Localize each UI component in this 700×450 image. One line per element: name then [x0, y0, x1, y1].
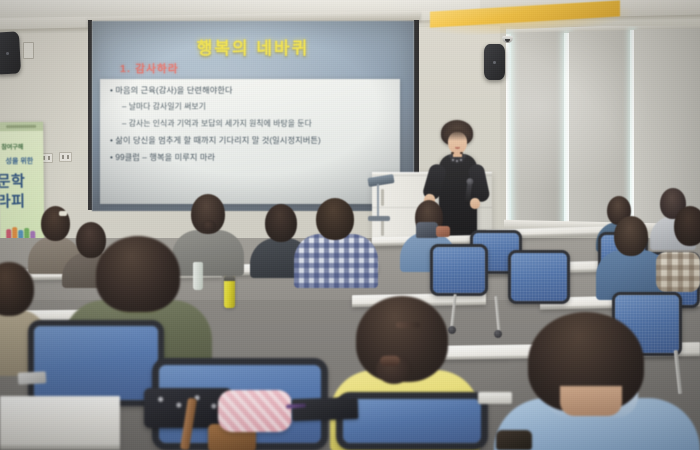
- chair-backrest: [430, 244, 488, 296]
- pink-scarf: [218, 390, 292, 432]
- poster-headline-2: 라피: [0, 190, 26, 211]
- projection-screen: 행복의 네바퀴 1. 감사하라 • 마음의 근육(감사)을 단련해야한다 – 날…: [92, 21, 414, 211]
- wall-speaker-right: [484, 44, 505, 80]
- hair-clip-icon: [396, 322, 420, 328]
- chair-backrest: [336, 392, 488, 450]
- attendee-neck: [560, 386, 622, 416]
- cup[interactable]: [496, 430, 532, 450]
- attendee-shoulders: [294, 234, 378, 288]
- poster-top-note: 참여구해: [1, 142, 23, 151]
- lecture-hall-photo: 행복의 네바퀴 1. 감사하라 • 마음의 근육(감사)을 단련해야한다 – 날…: [0, 0, 700, 450]
- desk-object-front[interactable]: [416, 222, 438, 238]
- screen-vignette: [92, 21, 414, 211]
- desk-foreground: [0, 396, 120, 450]
- attendee-checkered-shirt: [294, 198, 378, 286]
- chair-row3-b[interactable]: [508, 250, 570, 304]
- smartphone[interactable]: [18, 371, 47, 384]
- attendee-head: [674, 206, 700, 246]
- presenter-fringe: [444, 129, 471, 141]
- notebook[interactable]: [292, 397, 359, 421]
- attendee-head: [316, 198, 354, 240]
- hair-clip-icon: [59, 211, 67, 216]
- chair-row3-a[interactable]: [430, 244, 488, 296]
- yellow-tumbler[interactable]: [224, 276, 235, 308]
- attendee-head: [265, 204, 297, 242]
- wall-outlet-2: [59, 152, 72, 162]
- attendee-head: [96, 236, 180, 312]
- attendee-hair-bun: [202, 220, 216, 232]
- attendee-row3-far-right: [668, 206, 700, 276]
- attendee-head: [0, 262, 34, 316]
- desk-power-module[interactable]: [478, 392, 512, 404]
- hair-tie-icon: [380, 356, 400, 366]
- poster-kicker: 성을 위한: [5, 156, 33, 166]
- attendee-head: [614, 216, 648, 256]
- presenter-right-hand: [470, 198, 480, 209]
- chair-foreground-right[interactable]: [336, 392, 488, 450]
- light-switch-plate[interactable]: [23, 42, 34, 59]
- desk-object-front-2[interactable]: [436, 226, 450, 237]
- poster-headline-1: 문학: [0, 170, 25, 191]
- wall-speaker-left: [0, 31, 21, 74]
- chair-backrest: [508, 250, 570, 304]
